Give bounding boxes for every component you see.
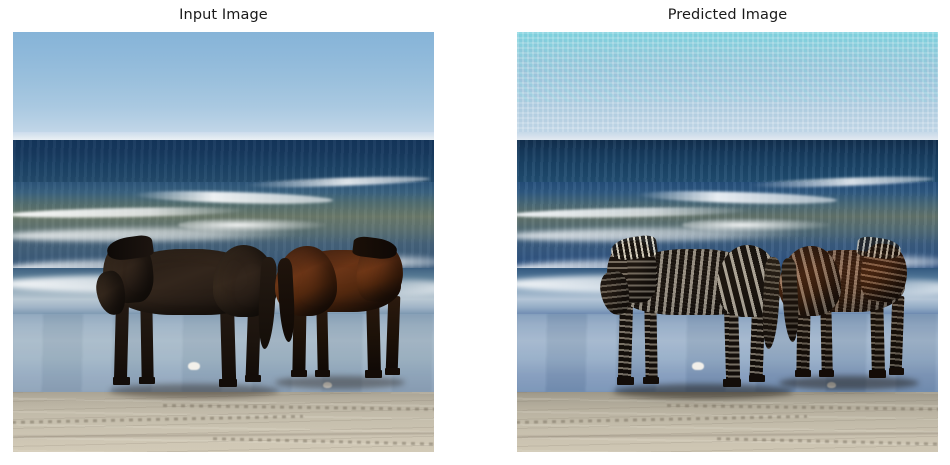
zebra-hoof [889, 368, 904, 375]
dry-sand-layer [517, 392, 938, 452]
horse-leg [386, 296, 401, 372]
dry-sand-layer [13, 392, 434, 452]
zebra-hoof [723, 379, 741, 387]
figure-canvas: Input Image [0, 0, 950, 465]
horse-hoof [385, 368, 400, 375]
zebra-leg [890, 296, 905, 372]
deep-ocean-layer [517, 140, 938, 182]
horse-left [101, 227, 281, 392]
panel-title-predicted: Predicted Image [517, 6, 938, 24]
horse-hoof [139, 377, 155, 384]
panel-predicted-image: Predicted Image [517, 0, 938, 465]
zebra-hoof [749, 375, 765, 382]
zebra-hoof [643, 377, 659, 384]
horse-hoof [291, 370, 307, 377]
horse-hoof [113, 377, 130, 385]
panel-input-image: Input Image [13, 0, 434, 465]
ocean-texture [517, 140, 938, 182]
sky-layer [13, 32, 434, 140]
zebra-hoof [795, 370, 811, 377]
horse-hoof [219, 379, 237, 387]
deep-ocean-layer [13, 140, 434, 182]
sky-cyan-artifact [517, 32, 938, 102]
haze-band [517, 132, 938, 140]
zebra-stripes [890, 296, 905, 372]
horse-right [271, 232, 411, 384]
zebra-hoof [617, 377, 634, 385]
zebra-left [605, 227, 785, 392]
axes-predicted-image [517, 32, 938, 452]
horse-hoof [315, 370, 330, 377]
zebra-hoof [819, 370, 834, 377]
panel-title-input: Input Image [13, 6, 434, 24]
ocean-texture [13, 140, 434, 182]
horse-hoof [245, 375, 261, 382]
horse-hoof [365, 370, 382, 378]
zebra-right [775, 232, 915, 384]
zebra-hoof [869, 370, 886, 378]
axes-input-image [13, 32, 434, 452]
haze-band [13, 132, 434, 140]
